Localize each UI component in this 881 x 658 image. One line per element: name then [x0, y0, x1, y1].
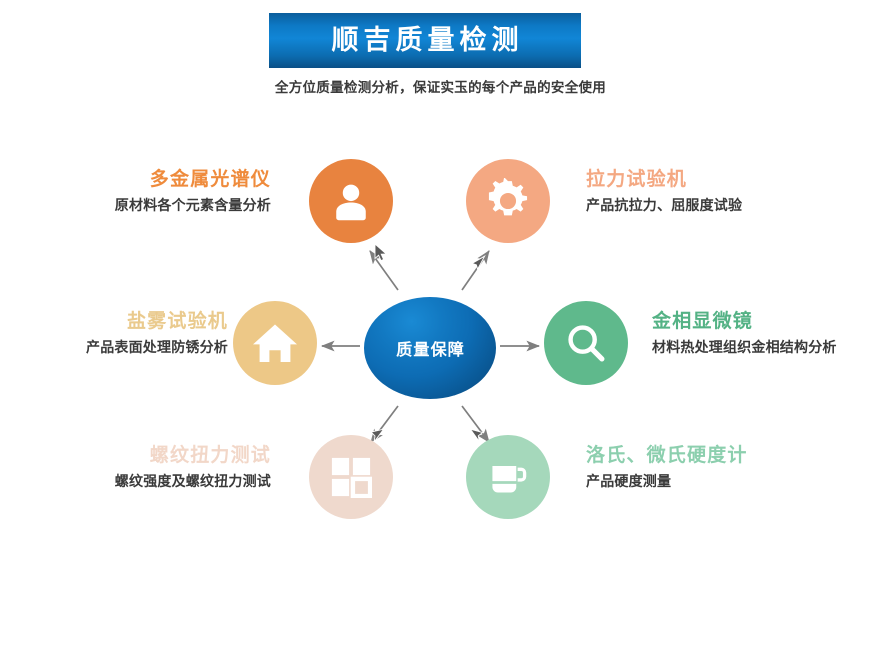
node-circle-tensile-testing-machine[interactable]	[466, 159, 550, 243]
node-circle-multi-metal-spectrometer[interactable]	[309, 159, 393, 243]
node-circle-hardness-tester[interactable]	[466, 435, 550, 519]
caption-description: 材料热处理组织金相结构分析	[652, 339, 837, 357]
node-circle-metallographic-microscope[interactable]	[544, 301, 628, 385]
center-hub-label: 质量保障	[395, 336, 465, 360]
caption-salt-spray-test-machine: 盐雾试验机 产品表面处理防锈分析	[86, 310, 228, 356]
caption-multi-metal-spectrometer: 多金属光谱仪 原材料各个元素含量分析	[115, 168, 271, 214]
caption-description: 产品硬度测量	[586, 473, 748, 491]
caption-metallographic-microscope: 金相显微镜 材料热处理组织金相结构分析	[652, 310, 837, 356]
arrow-to-node-5	[462, 406, 489, 442]
caption-title: 多金属光谱仪	[115, 168, 271, 192]
caption-title: 洛氏、微氏硬度计	[586, 444, 748, 468]
caption-tensile-testing-machine: 拉力试验机 产品抗拉力、屈服度试验	[586, 168, 742, 214]
arrow-to-node-4	[371, 406, 398, 442]
caption-description: 产品表面处理防锈分析	[86, 339, 228, 357]
mug-icon	[486, 455, 530, 499]
caption-title: 拉力试验机	[586, 168, 742, 192]
caption-description: 产品抗拉力、屈服度试验	[586, 197, 742, 215]
arrow-to-node-0	[370, 251, 398, 290]
center-hub[interactable]: 质量保障	[364, 297, 496, 399]
caption-thread-torque-test: 螺纹扭力测试 螺纹强度及螺纹扭力测试	[115, 444, 271, 490]
quality-inspection-diagram: 质量保障	[0, 110, 881, 658]
caption-description: 螺纹强度及螺纹扭力测试	[115, 473, 271, 491]
page-subtitle: 全方位质量检测分析，保证实玉的每个产品的安全使用	[0, 76, 881, 96]
person-icon	[328, 178, 374, 224]
grid-squares-icon	[330, 456, 372, 498]
node-circle-salt-spray-test-machine[interactable]	[233, 301, 317, 385]
arrow-to-node-1	[462, 251, 489, 290]
caption-title: 金相显微镜	[652, 310, 837, 334]
gear-icon	[485, 178, 531, 224]
page-title: 顺吉质量检测	[327, 27, 524, 54]
page-header: 顺吉质量检测 全方位质量检测分析，保证实玉的每个产品的安全使用	[0, 0, 881, 110]
home-icon	[251, 319, 299, 367]
mouse-cursor-arrow-secondary	[471, 255, 486, 271]
caption-description: 原材料各个元素含量分析	[115, 197, 271, 215]
title-banner: 顺吉质量检测	[269, 13, 581, 68]
caption-title: 螺纹扭力测试	[115, 444, 271, 468]
mouse-cursor-arrow-quaternary	[469, 428, 484, 444]
mouse-cursor-pointer	[374, 243, 389, 262]
caption-hardness-tester: 洛氏、微氏硬度计 产品硬度测量	[586, 444, 748, 490]
magnifier-icon	[563, 320, 609, 366]
caption-title: 盐雾试验机	[86, 310, 228, 334]
node-circle-thread-torque-test[interactable]	[309, 435, 393, 519]
